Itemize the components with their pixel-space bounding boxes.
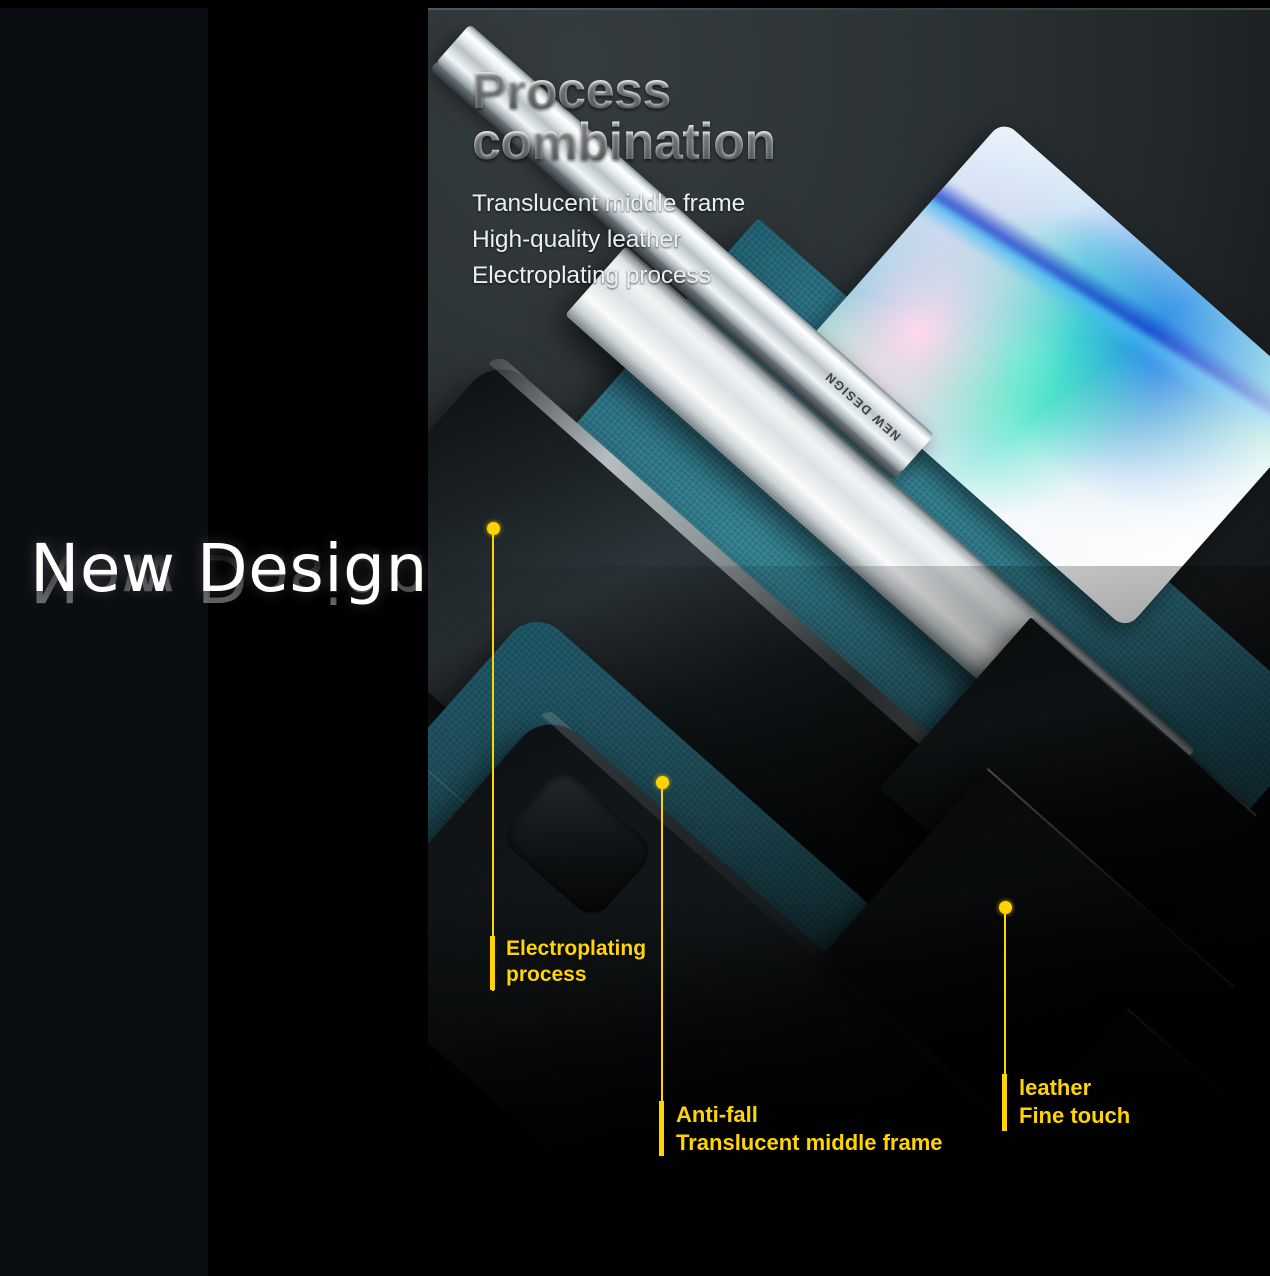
feature-item-3: Electroplating process — [472, 258, 892, 294]
callout-text-leather: leather Fine touch — [1019, 1074, 1130, 1129]
brand-title-reflection: New Design — [30, 544, 430, 610]
promo-banner: New Design New Design NEW DESI — [0, 0, 1270, 1276]
top-edge-bar — [0, 0, 1270, 8]
brand-title-block: New Design New Design — [30, 536, 430, 676]
callout-text-line-1: Electroplating — [506, 936, 646, 962]
feature-list: Translucent middle frame High-quality le… — [472, 186, 892, 294]
product-photo-panel: NEW DESIGN Process combination Transluce… — [428, 8, 1270, 1276]
callout-tick-anti-fall — [659, 1101, 664, 1156]
headline-line-1: Process — [472, 66, 892, 117]
callout-text-line-1: Anti-fall — [676, 1101, 943, 1129]
feature-item-2: High-quality leather — [472, 222, 892, 258]
callout-tick-electroplating — [490, 936, 495, 990]
panel-top-hairline — [428, 8, 1270, 10]
callout-text-line-2: Translucent middle frame — [676, 1129, 943, 1157]
callout-text-line-2: process — [506, 962, 646, 988]
feature-item-1: Translucent middle frame — [472, 186, 892, 222]
callout-text-line-1: leather — [1019, 1074, 1130, 1102]
headline-block: Process combination Translucent middle f… — [472, 66, 892, 294]
headline-line-2: combination — [472, 117, 892, 168]
callout-text-anti-fall: Anti-fall Translucent middle frame — [676, 1101, 943, 1156]
callout-text-electroplating: Electroplating process — [506, 936, 646, 989]
callout-text-line-2: Fine touch — [1019, 1102, 1130, 1130]
callout-tick-leather — [1002, 1074, 1007, 1131]
callout-line-electroplating — [492, 533, 494, 991]
